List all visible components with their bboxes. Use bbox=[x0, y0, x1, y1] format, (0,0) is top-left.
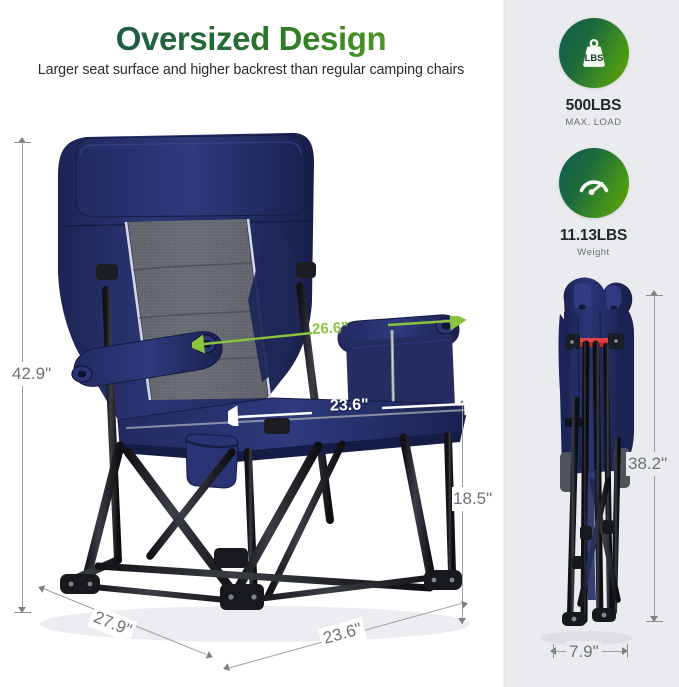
right-panel: LBS 500LBS MAX. LOAD 11.13LBS Weight bbox=[508, 0, 679, 687]
dimension-total-height-label: 42.9" bbox=[10, 362, 53, 386]
left-panel: Oversized Design Larger seat surface and… bbox=[0, 0, 502, 687]
dimension-folded-height-label: 38.2" bbox=[626, 452, 669, 476]
dimension-seat-height-label: 18.5" bbox=[452, 487, 493, 511]
dimension-folded-width-label: 7.9" bbox=[566, 641, 602, 663]
dimension-seat-width-label: 23.6" bbox=[330, 396, 369, 415]
dimension-armrest-width-label: 26.6" bbox=[312, 319, 349, 338]
infographic-root: Oversized Design Larger seat surface and… bbox=[0, 0, 679, 687]
